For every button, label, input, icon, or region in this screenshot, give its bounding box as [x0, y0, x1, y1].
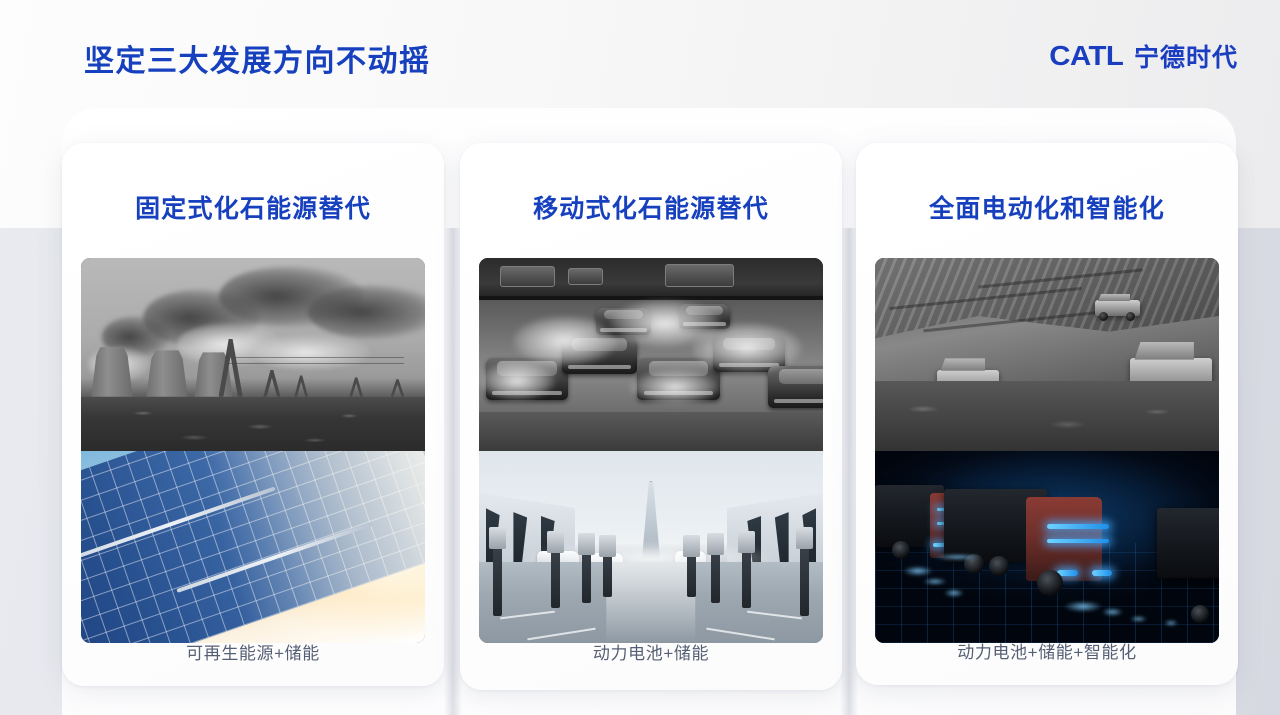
- card-image-stack: [479, 258, 823, 643]
- brand-chinese-text: 宁德时代: [1134, 38, 1238, 74]
- traffic-exhaust-photo: [479, 258, 823, 451]
- card-image-stack: [81, 258, 425, 643]
- card-image-stack: [875, 258, 1219, 643]
- electric-trucks-photo: [875, 451, 1219, 644]
- card-caption: 动力电池+储能: [460, 639, 842, 664]
- direction-card-stationary[interactable]: 固定式化石能源替代: [62, 143, 444, 686]
- mining-site-photo: [875, 258, 1219, 451]
- coal-power-plant-photo: [81, 258, 425, 451]
- brand-latin-text: CATL: [1050, 40, 1124, 72]
- direction-card-electrification[interactable]: 全面电动化和智能化: [856, 143, 1238, 685]
- slide-header: 坚定三大发展方向不动摇 CATL 宁德时代: [0, 0, 1280, 108]
- direction-card-mobile[interactable]: 移动式化石能源替代: [460, 143, 842, 690]
- solar-panels-photo: [81, 451, 425, 644]
- card-caption: 动力电池+储能+智能化: [856, 638, 1238, 663]
- card-title: 移动式化石能源替代: [460, 189, 842, 225]
- ev-charging-plaza-photo: [479, 451, 823, 644]
- page-title: 坚定三大发展方向不动摇: [84, 36, 431, 80]
- card-caption: 可再生能源+储能: [62, 639, 444, 664]
- card-title: 固定式化石能源替代: [62, 189, 444, 225]
- card-title: 全面电动化和智能化: [856, 189, 1238, 225]
- catl-logo: CATL 宁德时代: [1051, 38, 1238, 74]
